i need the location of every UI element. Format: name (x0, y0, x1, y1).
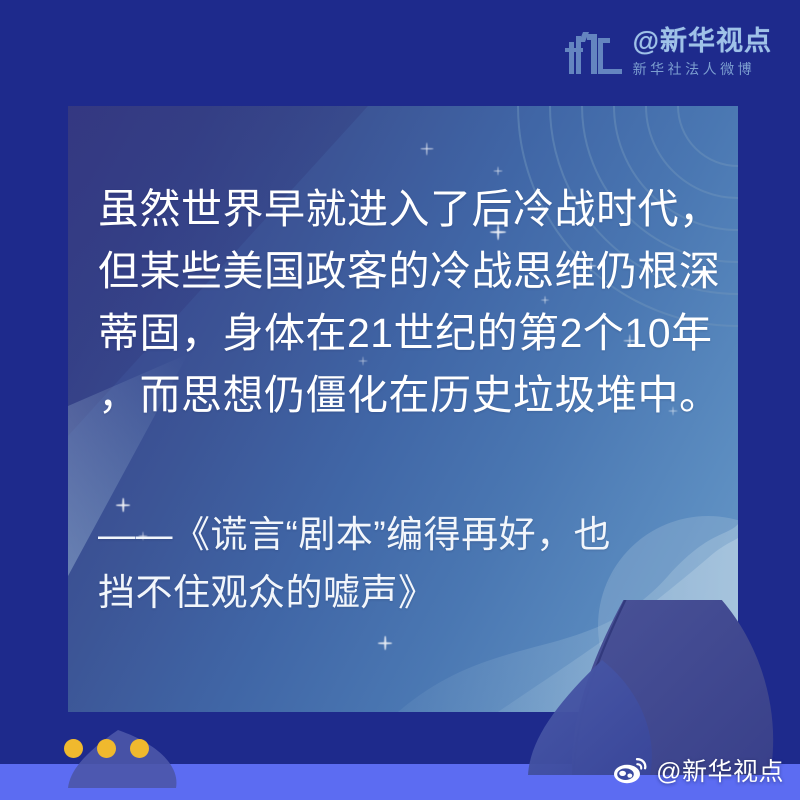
attribution-line: 挡不住观众的嘘声》 (98, 564, 728, 622)
brand-tagline: 新华社法人微博 (633, 62, 772, 76)
xinhua-logo-icon (565, 26, 623, 78)
accent-dot (64, 739, 83, 758)
attribution-line: ——《谎言“剧本”编得再好，也 (98, 506, 728, 564)
brand-text: @新华视点 新华社法人微博 (633, 28, 772, 76)
quote-card: 虽然世界早就进入了后冷战时代， 但某些美国政客的冷战思维仍根深 蒂固，身体在21… (68, 106, 738, 712)
accent-dot (130, 739, 149, 758)
quote-line: 虽然世界早就进入了后冷战时代， (98, 178, 718, 240)
quote-line: 蒂固，身体在21世纪的第2个10年 (98, 302, 718, 364)
quote-line: ，而思想仍僵化在历史垃圾堆中。 (98, 364, 718, 426)
attribution-block: ——《谎言“剧本”编得再好，也 挡不住观众的嘘声》 (98, 506, 728, 622)
accent-dots (64, 739, 149, 758)
weibo-watermark: @新华视点 (613, 752, 784, 788)
quote-text-block: 虽然世界早就进入了后冷战时代， 但某些美国政客的冷战思维仍根深 蒂固，身体在21… (98, 178, 718, 426)
brand-lockup: @新华视点 新华社法人微博 (565, 26, 772, 78)
brand-handle: @新华视点 (633, 28, 772, 55)
quote-line: 但某些美国政客的冷战思维仍根深 (98, 240, 718, 302)
weibo-handle-label: @新华视点 (656, 752, 784, 788)
weibo-icon (613, 757, 647, 784)
accent-dot (97, 739, 116, 758)
poster-canvas: @新华视点 新华社法人微博 (0, 0, 800, 800)
